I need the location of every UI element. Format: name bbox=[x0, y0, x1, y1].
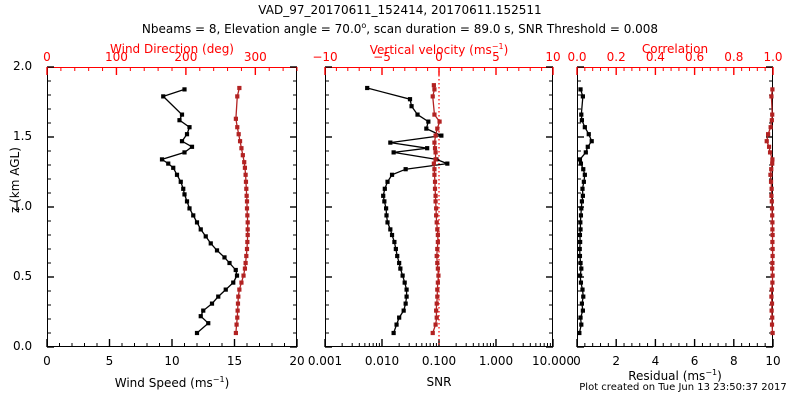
axis-tick-label: 0.2 bbox=[607, 50, 626, 64]
axis-tick-label: 0.0 bbox=[13, 339, 32, 353]
panel-residual bbox=[577, 67, 773, 347]
axis-tick-label: 0.5 bbox=[13, 269, 32, 283]
axis-tick-label: 5 bbox=[106, 354, 114, 368]
axis-tick-label: 2.0 bbox=[13, 59, 32, 73]
axis-tick-label: 5 bbox=[492, 50, 500, 64]
axis-tick-label: 2 bbox=[612, 354, 620, 368]
axis-tick-label: 8 bbox=[730, 354, 738, 368]
axis-tick-label: 0 bbox=[43, 50, 51, 64]
axis-tick-label: 0.4 bbox=[646, 50, 665, 64]
axis-tick-label: 0.6 bbox=[685, 50, 704, 64]
axis-tick-label: 10 bbox=[765, 354, 780, 368]
axis-tick-label: 0.8 bbox=[724, 50, 743, 64]
panel-wind bbox=[47, 67, 297, 347]
axis-tick-label: 200 bbox=[174, 50, 197, 64]
panel-snr-bottom-axis-label: SNR bbox=[427, 375, 452, 389]
axis-tick-label: 0.010 bbox=[365, 354, 399, 368]
panel-residual-plot bbox=[577, 67, 773, 347]
axis-tick-label: −5 bbox=[373, 50, 391, 64]
axis-tick-label: −10 bbox=[312, 50, 337, 64]
axis-tick-label: 0 bbox=[573, 354, 581, 368]
panel-wind-plot bbox=[47, 67, 297, 347]
axis-tick-label: 0.001 bbox=[308, 354, 342, 368]
vad-profile-figure: VAD_97_20170611_152414, 20170611.152511 … bbox=[0, 0, 800, 400]
panel-snr-plot bbox=[325, 67, 553, 347]
figure-footer: Plot created on Tue Jun 13 23:50:37 2017 bbox=[579, 382, 786, 393]
figure-subtitle: Nbeams = 8, Elevation angle = 70.0o, sca… bbox=[142, 21, 658, 36]
axis-tick-label: 6 bbox=[691, 354, 699, 368]
axis-tick-label: 100 bbox=[105, 50, 128, 64]
axis-tick-label: 1.0 bbox=[13, 199, 32, 213]
panel-wind-bottom-axis-label: Wind Speed (ms−1) bbox=[115, 375, 230, 390]
axis-tick-label: 4 bbox=[652, 354, 660, 368]
axis-tick-label: 1.0 bbox=[763, 50, 782, 64]
axis-tick-label: 0 bbox=[43, 354, 51, 368]
axis-tick-label: 10.000 bbox=[532, 354, 574, 368]
axis-tick-label: 15 bbox=[227, 354, 242, 368]
axis-tick-label: 1.5 bbox=[13, 129, 32, 143]
figure-title: VAD_97_20170611_152414, 20170611.152511 bbox=[258, 3, 541, 17]
panel-wind-top-axis-label: Wind Direction (deg) bbox=[110, 42, 234, 56]
axis-tick-label: 20 bbox=[289, 354, 304, 368]
axis-tick-label: 0.100 bbox=[422, 354, 456, 368]
axis-tick-label: 10 bbox=[164, 354, 179, 368]
axis-tick-label: 1.000 bbox=[479, 354, 513, 368]
axis-tick-label: 300 bbox=[244, 50, 267, 64]
panel-snr bbox=[325, 67, 553, 347]
axis-tick-label: 10 bbox=[545, 50, 560, 64]
axis-tick-label: 0 bbox=[435, 50, 443, 64]
panel-residual-bottom-axis-label: Residual (ms−1) bbox=[628, 368, 722, 383]
axis-tick-label: 0.0 bbox=[567, 50, 586, 64]
